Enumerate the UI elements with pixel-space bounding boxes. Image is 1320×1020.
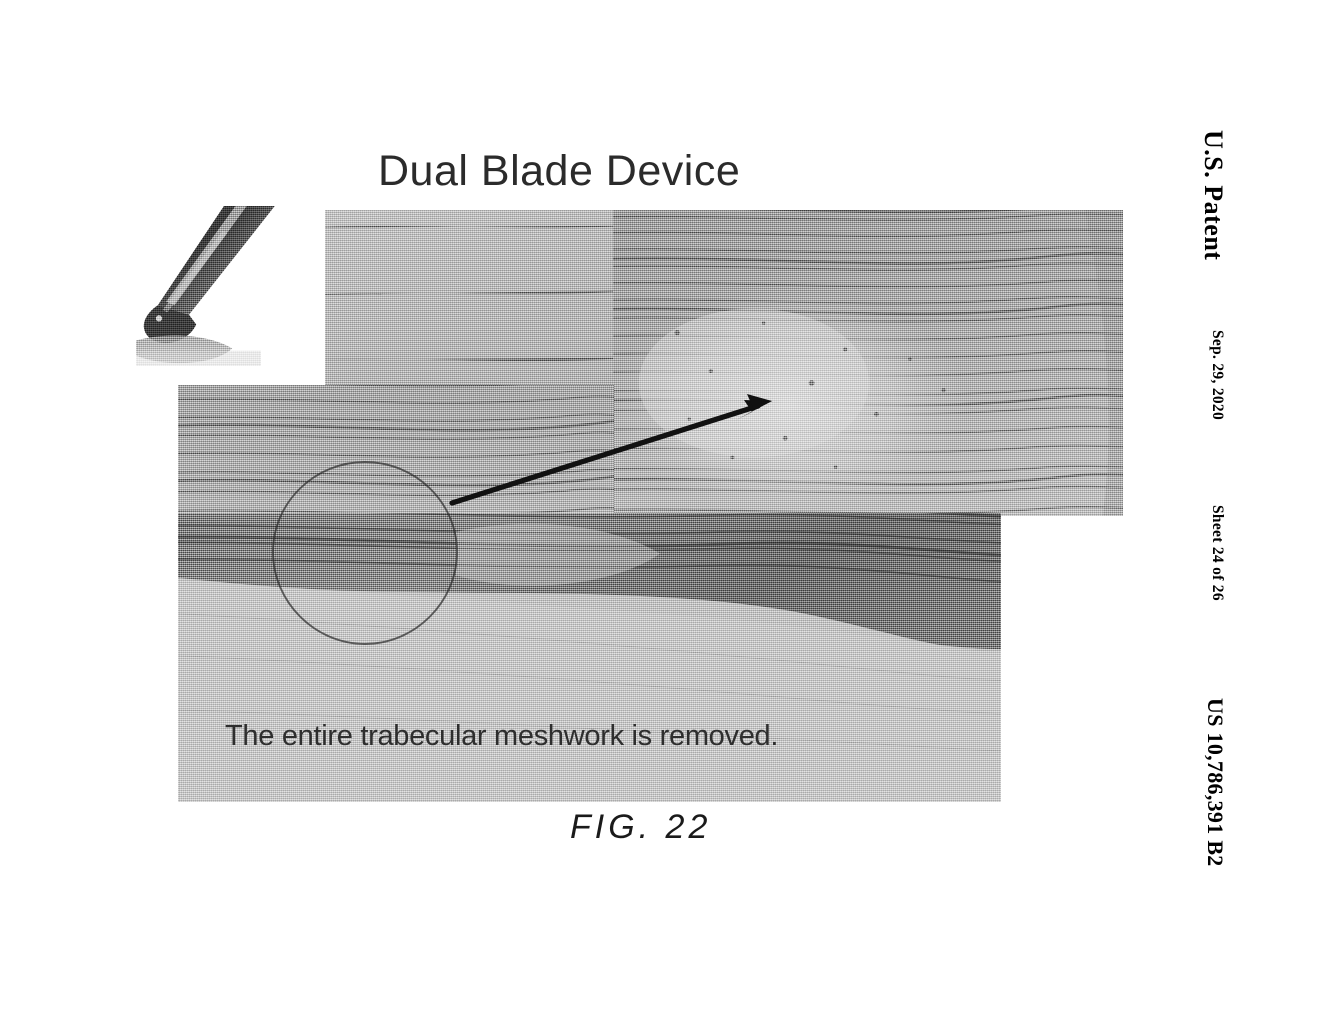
patent-date-label: Sep. 29, 2020 (1208, 330, 1226, 420)
patent-number-label: US 10,786,391 B2 (1202, 698, 1228, 867)
figure-caption: The entire trabecular meshwork is remove… (225, 720, 778, 753)
patent-header-strip: U.S. Patent Sep. 29, 2020 Sheet 24 of 26… (1180, 0, 1320, 1020)
page-title: Dual Blade Device (378, 147, 740, 196)
panel-upper-right-tissue (613, 210, 1123, 516)
fibrous-tissue-graphic (613, 210, 1123, 516)
patent-sheet: Dual Blade Device (0, 0, 1320, 1020)
figure-number: FIG. 22 (570, 808, 711, 847)
instrument-tip-graphic (136, 206, 330, 366)
panel-instrument-tip-inset (136, 206, 330, 366)
patent-sheet-label: Sheet 24 of 26 (1208, 505, 1226, 601)
bottom-overview-graphic (178, 513, 1001, 802)
patent-publisher-label: U.S. Patent (1198, 130, 1228, 260)
panel-bottom-overview (178, 513, 1001, 802)
